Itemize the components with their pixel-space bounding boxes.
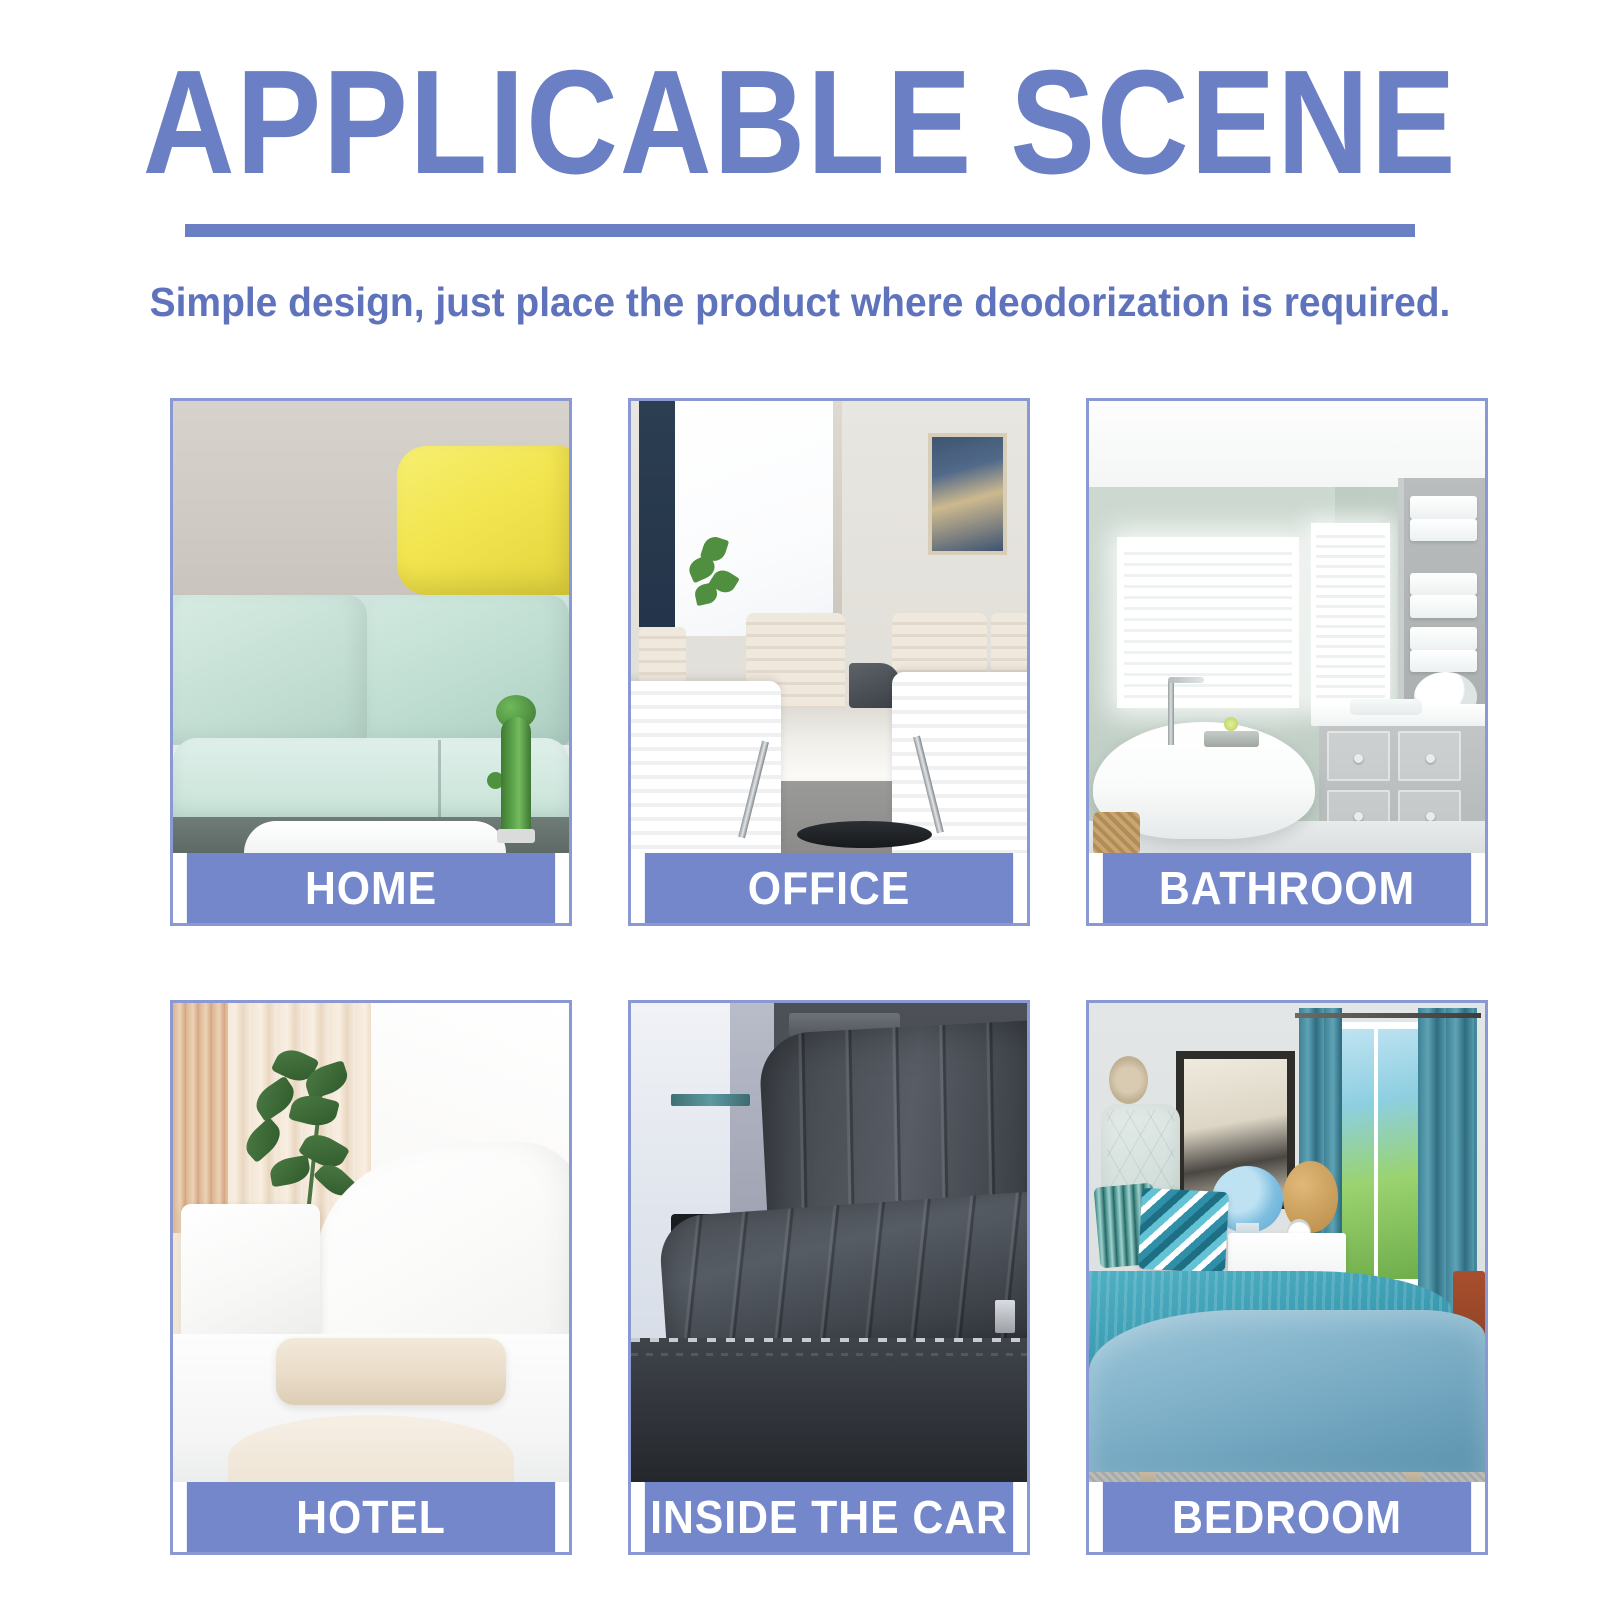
scene-label-text: HOTEL [296, 1490, 446, 1544]
car-lower-bench [631, 1338, 1027, 1482]
car-stitching-top [631, 1338, 1027, 1342]
bathroom-drawer-knob [1354, 754, 1363, 763]
scene-label-text: INSIDE THE CAR [650, 1490, 1008, 1544]
scene-label-text: HOME [305, 861, 437, 915]
scene-label-car: INSIDE THE CAR [645, 1482, 1013, 1552]
bedroom-window [1335, 1022, 1426, 1285]
scene-grid: HOME [170, 398, 1428, 1555]
hotel-curtain-accent [173, 1003, 228, 1233]
scene-photo-home [173, 401, 569, 853]
home-cactus-ornament [487, 695, 545, 835]
home-yellow-pillow [397, 446, 569, 595]
page-title: APPLICABLE SCENE [112, 52, 1488, 194]
bedroom-duvet [1089, 1310, 1485, 1473]
scene-label-text: BATHROOM [1159, 861, 1415, 915]
bathroom-towel [1410, 573, 1477, 596]
bathroom-towel [1410, 650, 1477, 673]
car-window-trim [671, 1094, 750, 1106]
scene-label-home: HOME [187, 853, 555, 923]
hotel-bolster-cushion [276, 1338, 506, 1405]
page-header: APPLICABLE SCENE Simple design, just pla… [0, 0, 1600, 326]
bedroom-curtain-rod [1295, 1013, 1481, 1018]
scene-label-office: OFFICE [645, 853, 1013, 923]
bathroom-faucet [1168, 681, 1174, 744]
page-subtitle: Simple design, just place the product wh… [40, 279, 1560, 326]
scene-card-home[interactable]: HOME [170, 398, 572, 926]
bathroom-drawer-knob [1426, 754, 1435, 763]
bathroom-towel [1410, 519, 1477, 542]
office-plant [686, 537, 741, 618]
scene-photo-bathroom [1089, 401, 1485, 853]
home-seat-seam [438, 740, 441, 821]
scene-label-text: OFFICE [748, 861, 910, 915]
bathroom-window-shutters [1117, 537, 1299, 709]
scene-card-hotel[interactable]: HOTEL [170, 1000, 572, 1555]
scene-label-bathroom: BATHROOM [1103, 853, 1471, 923]
car-seatbelt-buckle [995, 1300, 1015, 1334]
bathroom-ceiling [1089, 401, 1485, 487]
bathroom-faucet-head [1168, 677, 1204, 683]
office-dark-panel [639, 401, 675, 627]
scene-label-text: BEDROOM [1172, 1490, 1402, 1544]
scene-photo-bedroom [1089, 1003, 1485, 1482]
hotel-pillow [181, 1204, 320, 1343]
bathroom-drawer-knob [1426, 812, 1435, 821]
bathroom-corner-window [1311, 523, 1390, 708]
bathroom-wicker-basket [1093, 812, 1141, 853]
scene-label-bedroom: BEDROOM [1103, 1482, 1471, 1552]
scene-photo-office [631, 401, 1027, 853]
car-stitching-second [631, 1353, 1027, 1356]
scene-photo-car [631, 1003, 1027, 1482]
bedroom-window-bar [1374, 1022, 1378, 1285]
scene-photo-hotel [173, 1003, 569, 1482]
bathroom-towel [1410, 627, 1477, 650]
scene-card-bedroom[interactable]: BEDROOM [1086, 1000, 1488, 1555]
bathroom-flower [1224, 717, 1238, 731]
bathroom-sink [1350, 699, 1421, 715]
title-divider [185, 224, 1415, 237]
scene-card-bathroom[interactable]: BATHROOM [1086, 398, 1488, 926]
office-framed-artwork [928, 433, 1007, 555]
home-cushion-left [173, 595, 367, 744]
applicable-scene-page: APPLICABLE SCENE Simple design, just pla… [0, 0, 1600, 1600]
office-window-mullion [833, 401, 843, 645]
bedroom-wall-decor [1109, 1056, 1149, 1104]
scene-label-hotel: HOTEL [187, 1482, 555, 1552]
bathroom-towel [1410, 496, 1477, 519]
bedroom-chevron-pillow [1138, 1188, 1229, 1274]
scene-card-car[interactable]: INSIDE THE CAR [628, 1000, 1030, 1555]
scene-card-office[interactable]: OFFICE [628, 398, 1030, 926]
bathroom-towel [1410, 595, 1477, 618]
bathroom-bath-caddy [1204, 731, 1259, 747]
home-coffee-table [244, 821, 505, 853]
